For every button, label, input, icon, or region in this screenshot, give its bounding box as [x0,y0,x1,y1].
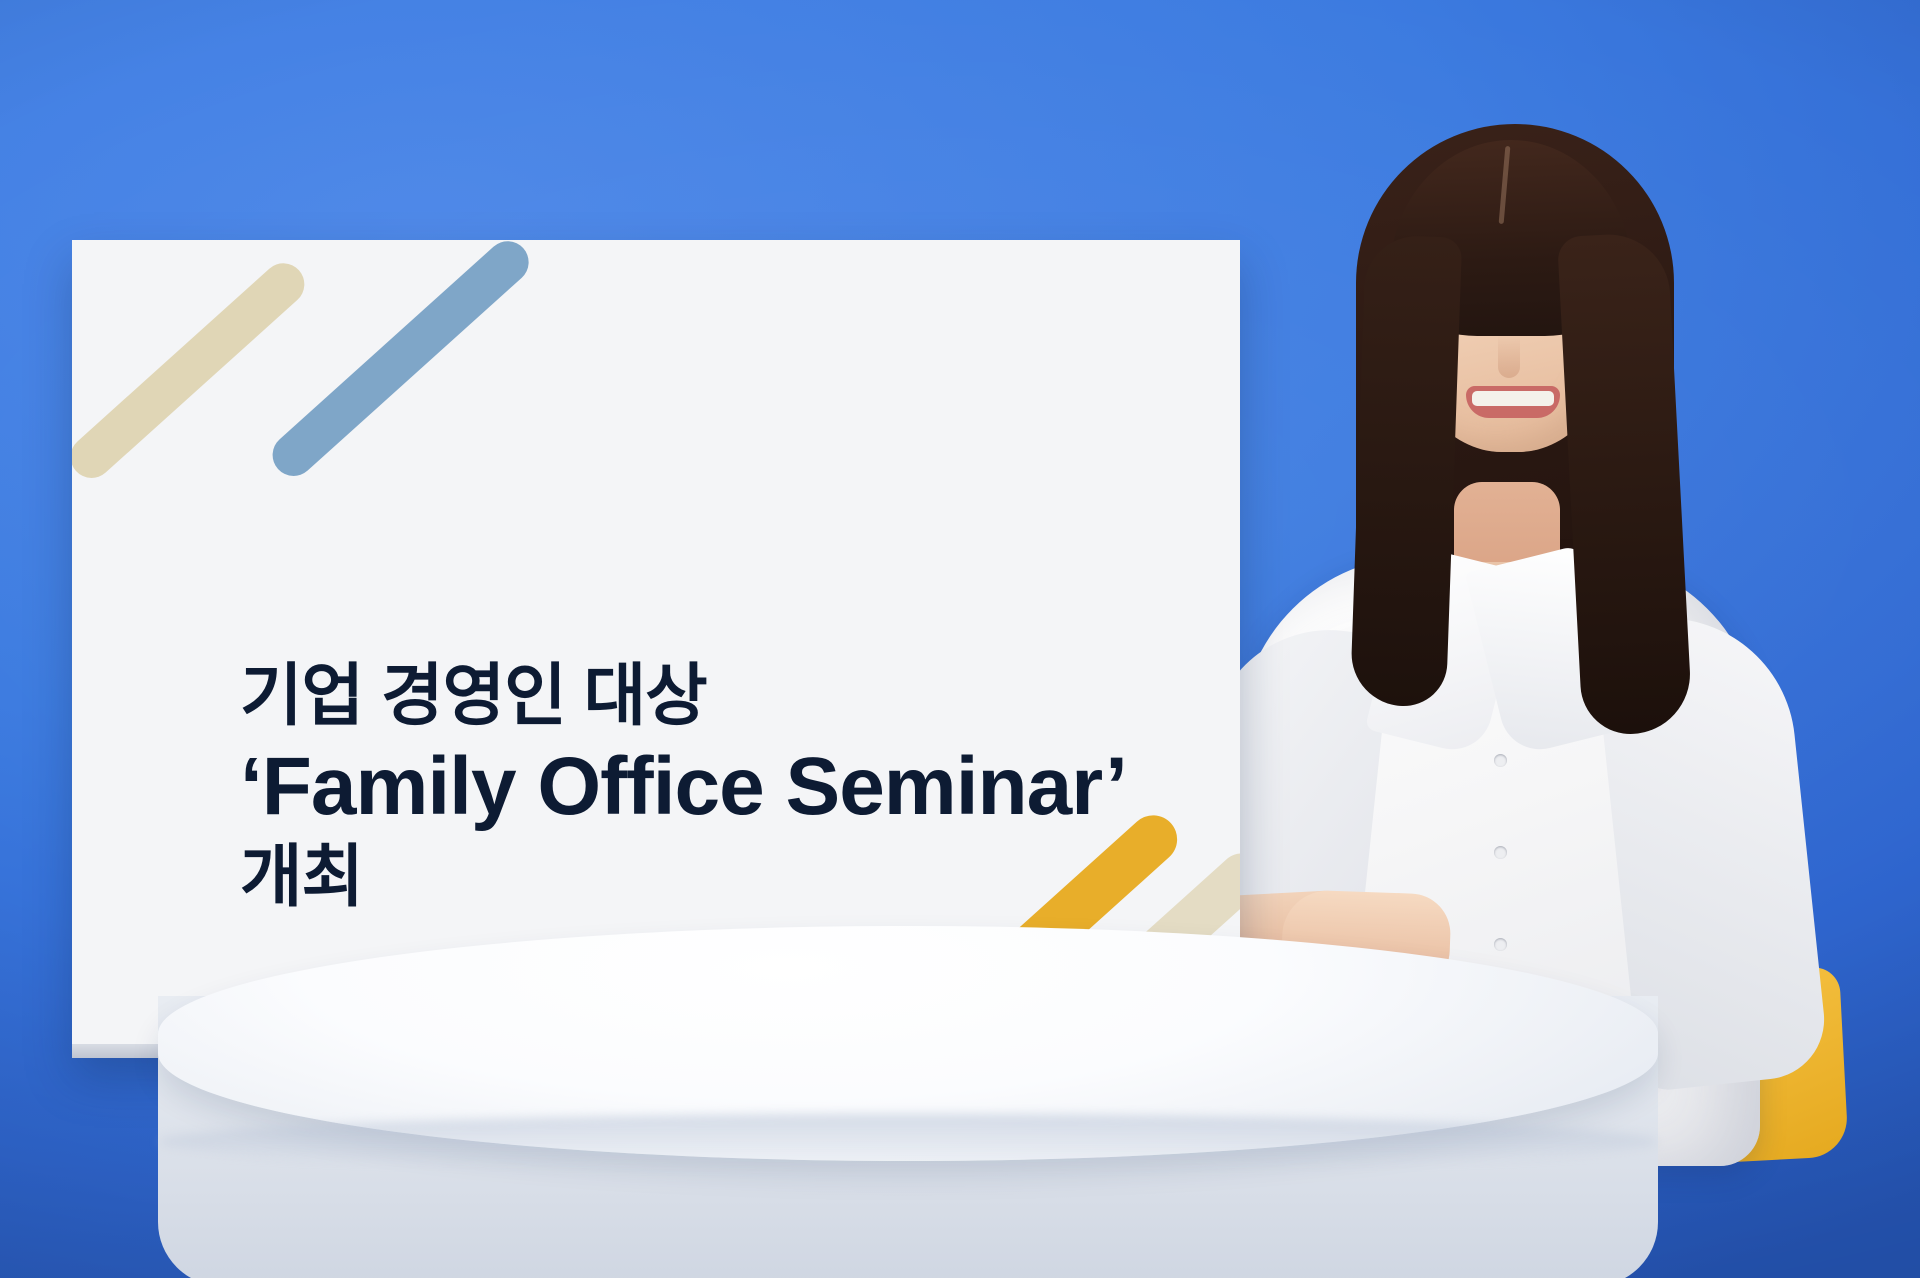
table-edge-shadow [158,1114,1658,1170]
steel-blue-diagonal-bar-decoration [264,240,537,485]
blouse-button [1494,754,1507,767]
round-table [158,926,1658,1278]
nose [1498,334,1520,378]
blouse-button [1494,846,1507,859]
teeth [1472,391,1554,406]
headline-line-3: 개최 [240,839,1240,917]
headline-line-2: ‘Family Office Seminar’ [240,740,1240,833]
board-headline: 기업 경영인 대상 ‘Family Office Seminar’ 개최 [240,658,1240,917]
hair-strand-left [1350,234,1462,707]
mouth [1466,386,1560,418]
scene: 기업 경영인 대상 ‘Family Office Seminar’ 개최 NH투… [0,0,1920,1278]
headline-line-1: 기업 경영인 대상 [240,658,1240,736]
